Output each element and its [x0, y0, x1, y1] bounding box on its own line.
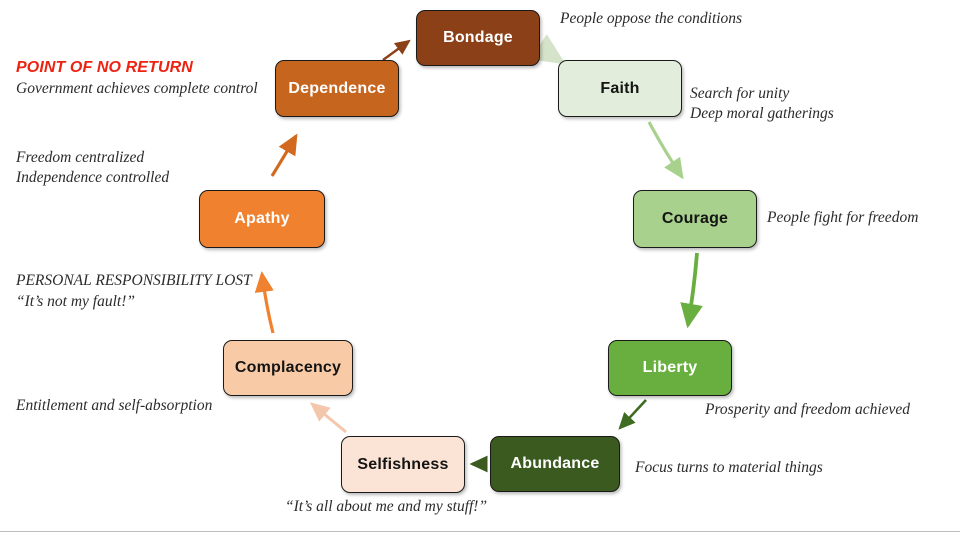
node-courage[interactable]: Courage [633, 190, 757, 248]
node-apathy-label: Apathy [234, 210, 289, 228]
arrow-faith-to-courage [649, 122, 682, 177]
annotation-people-fight: People fight for freedom [767, 208, 918, 228]
node-abundance[interactable]: Abundance [490, 436, 620, 492]
node-bondage[interactable]: Bondage [416, 10, 540, 66]
arrow-liberty-to-abundance [620, 400, 646, 428]
arrow-dependence-to-bondage [383, 41, 409, 60]
node-liberty[interactable]: Liberty [608, 340, 732, 396]
node-faith[interactable]: Faith [558, 60, 682, 117]
arrow-complacency-to-apathy [262, 274, 273, 333]
annotation-all-about-me: “It’s all about me and my stuff!” [285, 497, 487, 517]
node-liberty-label: Liberty [643, 359, 698, 377]
annotation-search-for-unity: Search for unity Deep moral gatherings [690, 84, 834, 124]
node-courage-label: Courage [662, 210, 728, 228]
node-complacency-label: Complacency [235, 359, 341, 377]
node-dependence-label: Dependence [288, 80, 385, 98]
node-faith-label: Faith [600, 80, 639, 98]
annotation-government-control: Government achieves complete control [16, 79, 258, 99]
node-apathy[interactable]: Apathy [199, 190, 325, 248]
node-selfishness-label: Selfishness [357, 456, 448, 474]
node-abundance-label: Abundance [511, 455, 600, 473]
arrow-apathy-to-dependence [272, 136, 296, 176]
arrow-selfishness-to-complacency [312, 404, 346, 432]
arrow-courage-to-liberty [688, 253, 697, 325]
arrow-bondage-to-faith [539, 47, 562, 62]
annotation-prosperity-achieved: Prosperity and freedom achieved [705, 400, 910, 420]
node-dependence[interactable]: Dependence [275, 60, 399, 117]
node-selfishness[interactable]: Selfishness [341, 436, 465, 493]
annotation-focus-material: Focus turns to material things [635, 458, 823, 478]
node-bondage-label: Bondage [443, 29, 513, 47]
annotation-freedom-centralized: Freedom centralized Independence control… [16, 148, 169, 188]
annotation-entitlement: Entitlement and self-absorption [16, 396, 212, 416]
annotation-personal-responsibility-lost: PERSONAL RESPONSIBILITY LOST [16, 271, 252, 291]
bottom-divider [0, 531, 960, 532]
annotation-not-my-fault: “It’s not my fault!” [16, 292, 135, 312]
diagram-canvas: Bondage Faith Courage Liberty Abundance … [0, 0, 960, 541]
annotation-people-oppose: People oppose the conditions [560, 9, 742, 29]
node-complacency[interactable]: Complacency [223, 340, 353, 396]
annotation-point-of-no-return: POINT OF NO RETURN [16, 58, 193, 79]
